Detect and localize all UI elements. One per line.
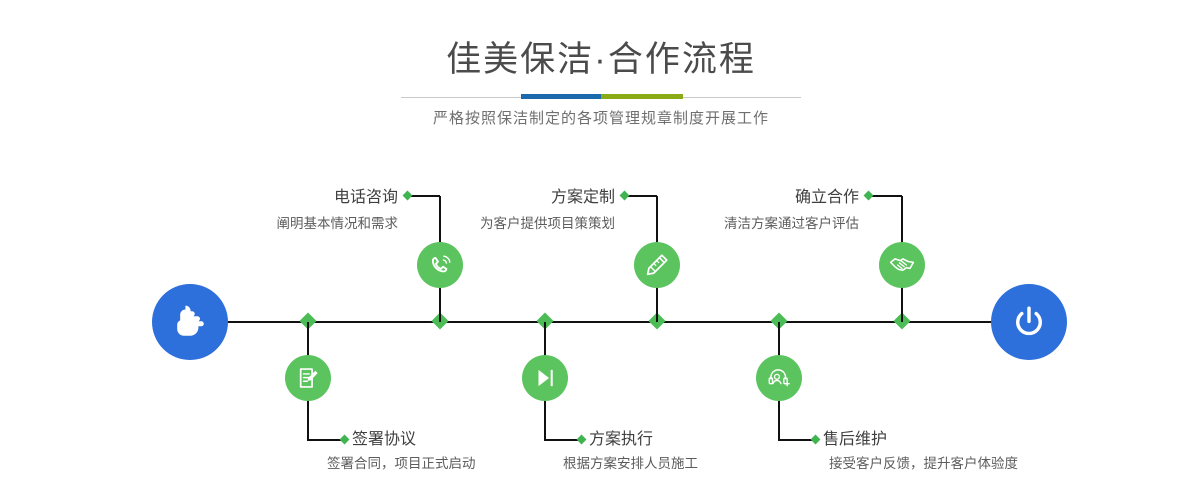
- process-flow-infographic: 佳美保洁·合作流程 严格按照保洁制定的各项管理规章制度开展工作: [0, 0, 1202, 502]
- step-icon-6[interactable]: [756, 355, 802, 401]
- headset-support-icon: [766, 365, 792, 391]
- pencil-ruler-icon: [644, 252, 670, 278]
- step-icon-3[interactable]: [634, 242, 680, 288]
- step-desc-4: 根据方案安排人员施工: [563, 457, 698, 471]
- connector-horizontal-5: [872, 195, 902, 197]
- divider-segment-green: [601, 94, 683, 99]
- label-marker-5: [864, 191, 874, 201]
- divider-segment-blue: [521, 94, 601, 99]
- connector-horizontal-4: [544, 439, 579, 441]
- connector-horizontal-2: [307, 439, 342, 441]
- pointing-hand-icon: [169, 301, 211, 343]
- label-marker-4: [577, 435, 587, 445]
- page-subtitle: 严格按照保洁制定的各项管理规章制度开展工作: [0, 107, 1202, 128]
- step-title-3: 方案定制: [420, 190, 615, 206]
- step-desc-1: 阐明基本情况和需求: [200, 217, 398, 231]
- step-icon-1[interactable]: [417, 242, 463, 288]
- step-title-2: 签署协议: [352, 432, 416, 448]
- step-desc-5: 清洁方案通过客户评估: [665, 217, 859, 231]
- document-edit-icon: [295, 365, 321, 391]
- title-divider: [401, 94, 801, 100]
- power-icon: [1009, 302, 1049, 342]
- label-marker-1: [403, 191, 413, 201]
- connector-horizontal-6: [778, 439, 813, 441]
- handshake-icon: [888, 251, 916, 279]
- step-icon-2[interactable]: [285, 355, 331, 401]
- step-desc-6: 接受客户反馈，提升客户体验度: [829, 457, 1018, 471]
- header: 佳美保洁·合作流程: [0, 0, 1202, 77]
- step-title-1: 电话咨询: [200, 190, 398, 206]
- step-desc-2: 签署合同，项目正式启动: [327, 457, 476, 471]
- step-icon-4[interactable]: [522, 355, 568, 401]
- step-title-4: 方案执行: [589, 432, 653, 448]
- timeline-start-endpoint[interactable]: [152, 284, 228, 360]
- step-desc-3: 为客户提供项目策策划: [420, 217, 615, 231]
- phone-call-icon: [427, 252, 454, 279]
- play-execute-icon: [532, 365, 558, 391]
- step-title-5: 确立合作: [665, 190, 859, 206]
- step-title-6: 售后维护: [823, 432, 887, 448]
- label-marker-6: [811, 435, 821, 445]
- connector-horizontal-3: [628, 195, 657, 197]
- label-marker-3: [620, 191, 630, 201]
- step-icon-5[interactable]: [879, 242, 925, 288]
- timeline-end-endpoint[interactable]: [991, 284, 1067, 360]
- page-title: 佳美保洁·合作流程: [0, 42, 1202, 77]
- label-marker-2: [340, 435, 350, 445]
